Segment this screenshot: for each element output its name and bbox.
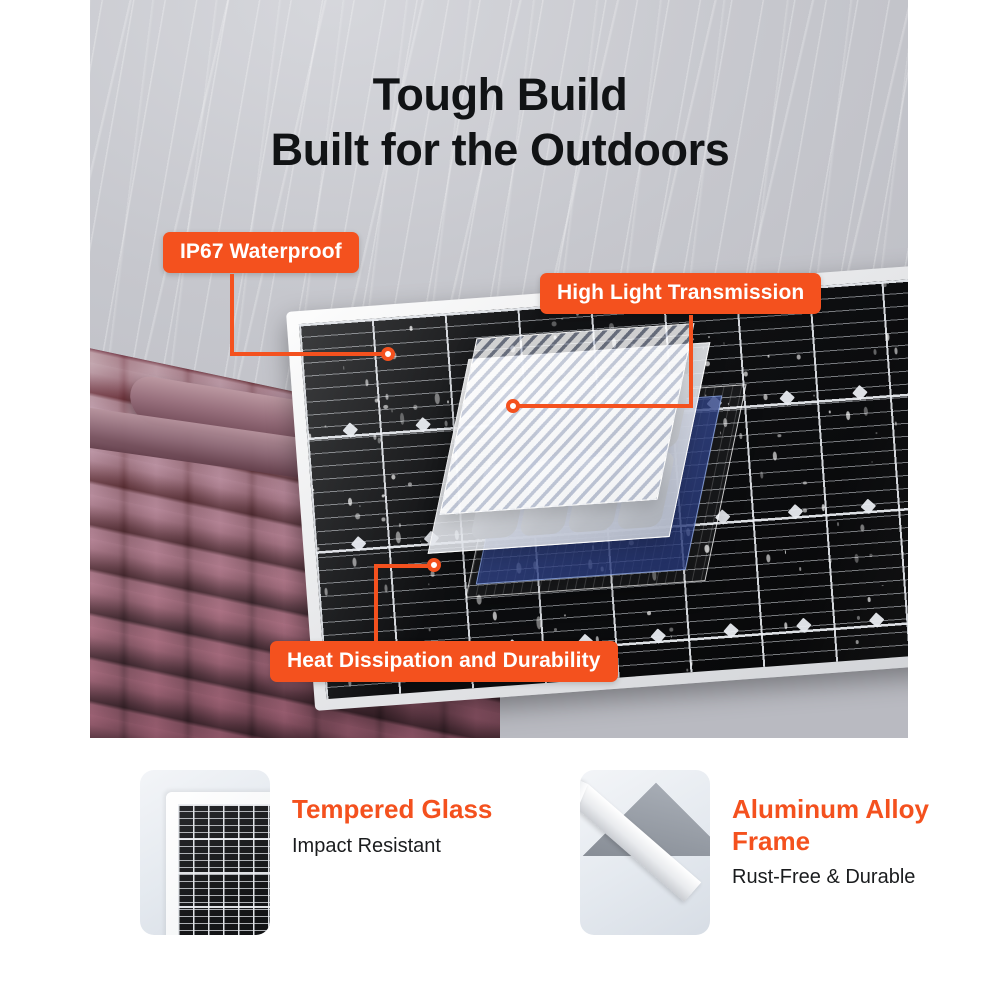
feature-subtitle: Rust-Free & Durable: [732, 866, 947, 889]
callout-line-ip67-vertical: [230, 274, 234, 356]
callout-badge-heat-dissipation[interactable]: Heat Dissipation and Durability: [270, 641, 618, 682]
callout-line-heat-vertical: [374, 566, 378, 644]
thumbnail-panel-cell-rows: [178, 804, 270, 935]
headline-line-2: Built for the Outdoors: [0, 123, 1000, 178]
feature-text-aluminum-alloy-frame: Aluminum Alloy Frame Rust-Free & Durable: [732, 770, 947, 889]
feature-subtitle: Impact Resistant: [292, 835, 492, 858]
feature-item-aluminum-alloy-frame: Aluminum Alloy Frame Rust-Free & Durable: [560, 770, 1000, 970]
layer-tempered-glass: [440, 323, 695, 515]
feature-text-tempered-glass: Tempered Glass Impact Resistant: [292, 770, 492, 858]
solar-panel-corner-thumbnail: [140, 770, 270, 935]
callout-dot-heat[interactable]: [427, 558, 441, 572]
callout-line-transmission-horizontal: [519, 404, 693, 408]
callout-dot-ip67[interactable]: [381, 347, 395, 361]
thumbnail-frame-group: [580, 770, 710, 935]
feature-title: Tempered Glass: [292, 794, 492, 826]
page-title: Tough Build Built for the Outdoors: [0, 68, 1000, 178]
headline-line-1: Tough Build: [0, 68, 1000, 123]
callout-line-transmission-vertical: [689, 315, 693, 408]
callout-dot-transmission[interactable]: [506, 399, 520, 413]
callout-badge-high-light-transmission[interactable]: High Light Transmission: [540, 273, 821, 314]
feature-item-tempered-glass: Tempered Glass Impact Resistant: [0, 770, 560, 970]
callout-badge-ip67[interactable]: IP67 Waterproof: [163, 232, 359, 273]
feature-title: Aluminum Alloy Frame: [732, 794, 947, 857]
feature-list: Tempered Glass Impact Resistant Aluminum…: [0, 770, 1000, 970]
callout-line-ip67-horizontal: [230, 352, 394, 356]
aluminum-frame-corner-thumbnail: [580, 770, 710, 935]
